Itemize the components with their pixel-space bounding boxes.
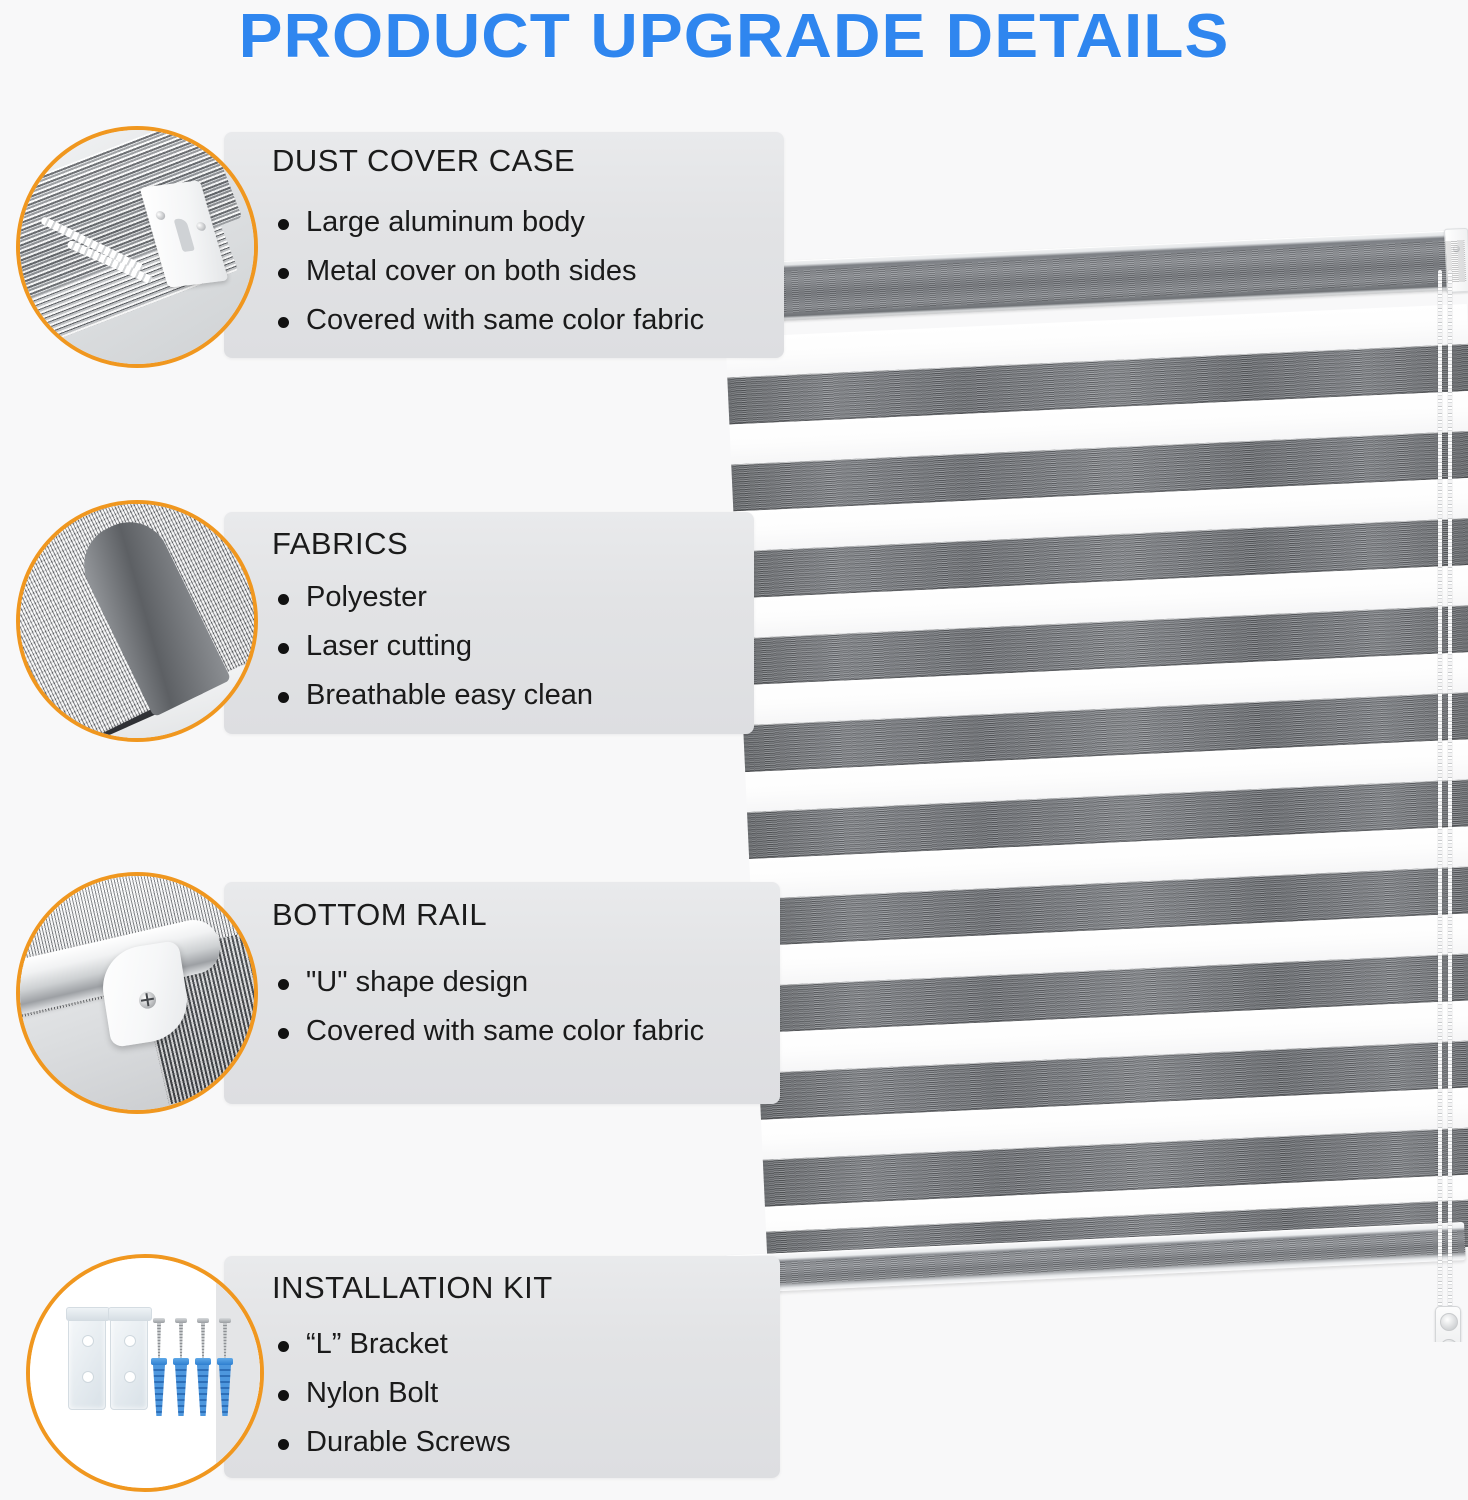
bead-chain[interactable] [1438,270,1454,1342]
chain-pulley-icon [1440,1339,1458,1342]
feature-bullet: Large aluminum body [276,198,704,247]
feature-bullet: Metal cover on both sides [276,247,704,296]
bottom-rail-photo [16,872,258,1114]
l-bracket-icon [68,1310,106,1410]
l-bracket-icon [110,1310,148,1410]
page-title: PRODUCT UPGRADE DETAILS [0,2,1468,72]
endcap-screw-icon [1453,245,1460,252]
product-image-zebra-blind [714,222,1468,1342]
feature-title: FABRICS [272,526,408,562]
feature-bullet: Covered with same color fabric [276,296,704,345]
feature-bullet: Nylon Bolt [276,1369,511,1418]
chain-pulley-icon [1440,1313,1458,1331]
bead-chain-strand [1448,270,1452,1330]
infographic-page: PRODUCT UPGRADE DETAILS [0,0,1468,1500]
installation-kit-photo [26,1254,264,1492]
fabric-closeup-image [20,504,254,738]
installation-kit-image [30,1258,260,1488]
feature-title: INSTALLATION KIT [272,1270,553,1306]
feature-bullet: Durable Screws [276,1418,511,1467]
bottom-rail-image [20,876,254,1110]
bead-chain-strand [1438,270,1442,1330]
dust-cover-case-image [20,130,254,364]
feature-title: BOTTOM RAIL [272,897,487,933]
feature-bullet: Breathable easy clean [276,671,593,720]
feature-bullet: Covered with same color fabric [276,1007,704,1056]
nylon-anchor-icon [151,1358,167,1416]
dust-cover-case-photo [16,126,258,368]
feature-title: DUST COVER CASE [272,143,575,179]
chain-tensioner[interactable] [1435,1306,1461,1342]
feature-bullet: Polyester [276,573,593,622]
nylon-anchor-icon [195,1358,211,1416]
fabric-closeup-photo [16,500,258,742]
nylon-anchor-icon [217,1358,233,1416]
feature-bullet: “L” Bracket [276,1320,511,1369]
blind-fabric-stack [723,244,1468,1287]
feature-bullet: "U" shape design [276,958,704,1007]
nylon-anchor-icon [173,1358,189,1416]
feature-bullet: Laser cutting [276,622,593,671]
